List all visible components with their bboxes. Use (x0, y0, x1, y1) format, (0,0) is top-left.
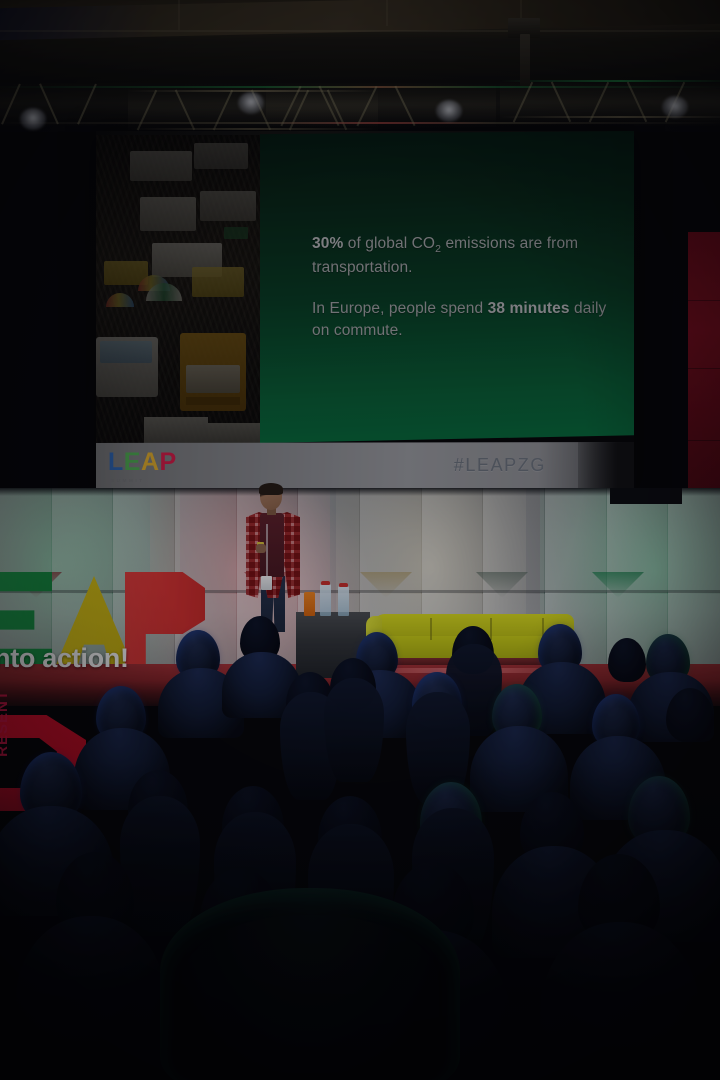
truss-light-strip (266, 122, 496, 124)
wall-facet (483, 488, 545, 594)
truss-light-strip (128, 128, 378, 130)
rigging-hardware (520, 34, 530, 86)
slide-traffic-photo (96, 135, 262, 443)
red-panel-seam (688, 300, 720, 301)
bottle-cap (321, 581, 330, 585)
truss-brace (356, 86, 377, 126)
logo-letter-p: P (160, 450, 176, 475)
speaker-hand (256, 544, 266, 553)
ceiling-seam (0, 30, 720, 32)
wall-facet (360, 488, 422, 594)
lighting-truss (266, 84, 496, 128)
wall-facet (422, 488, 484, 594)
stage-light (238, 92, 264, 114)
truss-brace (175, 90, 195, 131)
ceiling-seam (178, 0, 180, 30)
projection-screen: 30% of global CO2 emissions are from tra… (96, 131, 634, 491)
red-panel-seam (688, 440, 720, 441)
bottle-cap (339, 583, 348, 587)
slide-paragraph-2: In Europe, people spend 38 minutes daily… (312, 298, 612, 341)
stage-light (20, 108, 46, 130)
band-shadow-edge (578, 442, 634, 491)
speaker-badge (261, 576, 272, 590)
wall-facet (607, 488, 669, 594)
venue-ceiling (0, 0, 720, 132)
wall-facet (668, 488, 720, 594)
speaker-lanyard (266, 524, 268, 578)
leap-logo-letters: L E A P (108, 450, 176, 475)
truss-brace (77, 84, 96, 125)
conference-photo: 30% of global CO2 emissions are from tra… (0, 0, 720, 1080)
red-panel-seam (688, 368, 720, 369)
event-hashtag: #LEAPZG (454, 455, 546, 476)
foreground-silhouette (160, 888, 460, 1080)
logo-letter-a: A (141, 450, 159, 475)
slide-body-text: 30% of global CO2 emissions are from tra… (312, 233, 612, 361)
right-red-wall-panel (688, 232, 720, 514)
truss-brace (318, 86, 339, 126)
logo-letter-e: E (124, 450, 140, 475)
truss-brace (1, 84, 20, 125)
ceiling-seam (386, 0, 388, 26)
slide-paragraph-1: 30% of global CO2 emissions are from tra… (312, 233, 612, 278)
truss-brace (213, 90, 233, 131)
audience-head (608, 638, 646, 682)
logo-letter-l: L (108, 450, 123, 475)
truss-brace (137, 90, 157, 131)
wall-facet (545, 488, 607, 594)
truss-light-strip (500, 116, 720, 118)
stage-light (436, 100, 462, 122)
slide-footer-band: L E A P SUMMIT #LEAPZG (96, 442, 634, 491)
leap-logo: L E A P SUMMIT (108, 450, 176, 483)
stage-light (662, 96, 688, 118)
truss-brace (394, 86, 415, 126)
leap-logo-subtitle: SUMMIT (111, 478, 145, 483)
wall-facet (52, 488, 114, 594)
slide-green-panel: 30% of global CO2 emissions are from tra… (260, 131, 634, 443)
truss-brace (280, 86, 301, 126)
speaker-hair (259, 483, 283, 495)
facet-row-upper (0, 488, 720, 594)
upper-wall (0, 0, 720, 40)
